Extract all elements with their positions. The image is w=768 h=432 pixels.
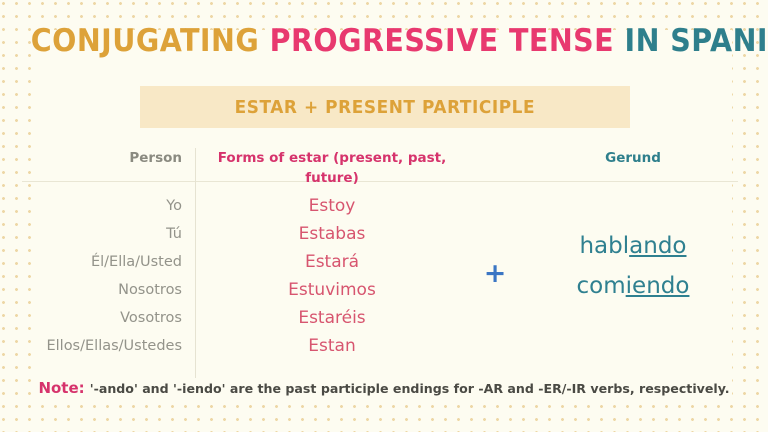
footnote-label: Note: xyxy=(38,379,84,397)
plus-icon: + xyxy=(465,260,525,287)
list-item: Nosotros xyxy=(22,276,190,304)
gerund-ending: iendo xyxy=(626,273,690,299)
column-header-person: Person xyxy=(22,148,190,174)
subtitle-banner: ESTAR + PRESENT PARTICIPLE xyxy=(140,86,630,128)
infographic-page: CONJUGATING PROGRESSIVE TENSE IN SPANISH… xyxy=(0,0,768,432)
header-divider-line xyxy=(22,181,738,182)
column-header-gerund: Gerund xyxy=(520,148,746,174)
estar-forms-column: Forms of estar (present, past, future) E… xyxy=(208,148,456,174)
person-column-divider-line xyxy=(195,148,196,378)
list-item: Estaréis xyxy=(208,304,456,332)
gerund-list: hablando comiendo xyxy=(520,226,746,306)
list-item: hablando xyxy=(520,226,746,266)
gerund-column: Gerund hablando comiendo xyxy=(520,148,746,174)
list-item: Él/Ella/Usted xyxy=(22,248,190,276)
list-item: Tú xyxy=(22,220,190,248)
conjugation-table: Person Yo Tú Él/Ella/Usted Nosotros Voso… xyxy=(0,148,768,383)
column-header-forms-of-estar: Forms of estar (present, past, future) xyxy=(208,148,456,174)
title-part-conjugating: CONJUGATING xyxy=(31,23,270,59)
footnote-text: '-ando' and '-iendo' are the past partic… xyxy=(90,381,730,396)
title-part-in-spanish: IN SPANISH xyxy=(625,23,768,59)
list-item: Vosotros xyxy=(22,304,190,332)
list-item: Ellos/Ellas/Ustedes xyxy=(22,332,190,360)
footnote: Note: '-ando' and '-iendo' are the past … xyxy=(0,378,768,397)
list-item: Estuvimos xyxy=(208,276,456,304)
list-item: Estan xyxy=(208,332,456,360)
estar-forms-list: Estoy Estabas Estará Estuvimos Estaréis … xyxy=(208,192,456,360)
gerund-ending: ando xyxy=(629,233,686,259)
list-item: comiendo xyxy=(520,266,746,306)
person-column: Person Yo Tú Él/Ella/Usted Nosotros Voso… xyxy=(22,148,190,174)
gerund-stem: com xyxy=(577,273,626,299)
list-item: Yo xyxy=(22,192,190,220)
page-title: CONJUGATING PROGRESSIVE TENSE IN SPANISH xyxy=(31,26,738,57)
list-item: Estabas xyxy=(208,220,456,248)
list-item: Estará xyxy=(208,248,456,276)
person-list: Yo Tú Él/Ella/Usted Nosotros Vosotros El… xyxy=(22,192,190,360)
list-item: Estoy xyxy=(208,192,456,220)
title-part-progressive-tense: PROGRESSIVE TENSE xyxy=(270,23,625,59)
subtitle-banner-text: ESTAR + PRESENT PARTICIPLE xyxy=(235,97,536,118)
gerund-stem: habl xyxy=(579,233,629,259)
